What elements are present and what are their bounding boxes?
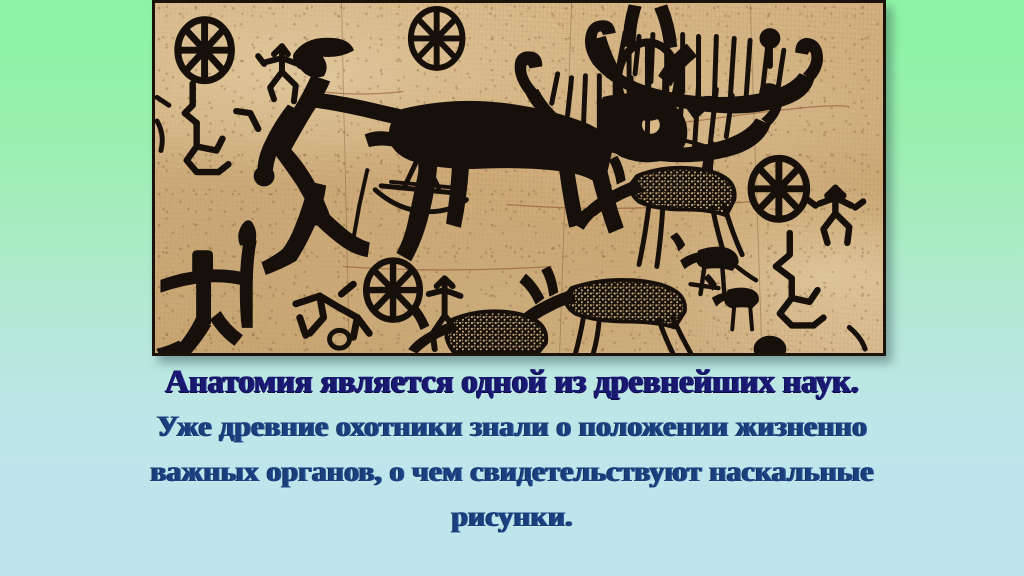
caption-title: Анатомия является одной из древнейших на… bbox=[0, 360, 1024, 404]
petroglyph-figures bbox=[155, 3, 883, 353]
caption-body-line-3: рисунки. bbox=[0, 494, 1024, 539]
slide-caption: Анатомия является одной из древнейших на… bbox=[0, 360, 1024, 539]
caption-body-line-2: важных органов, о чем свидетельствуют на… bbox=[0, 449, 1024, 494]
presentation-slide: Анатомия является одной из древнейших на… bbox=[0, 0, 1024, 576]
caption-body-line-1: Уже древние охотники знали о положении ж… bbox=[0, 404, 1024, 449]
cave-painting-image-frame bbox=[152, 0, 886, 356]
